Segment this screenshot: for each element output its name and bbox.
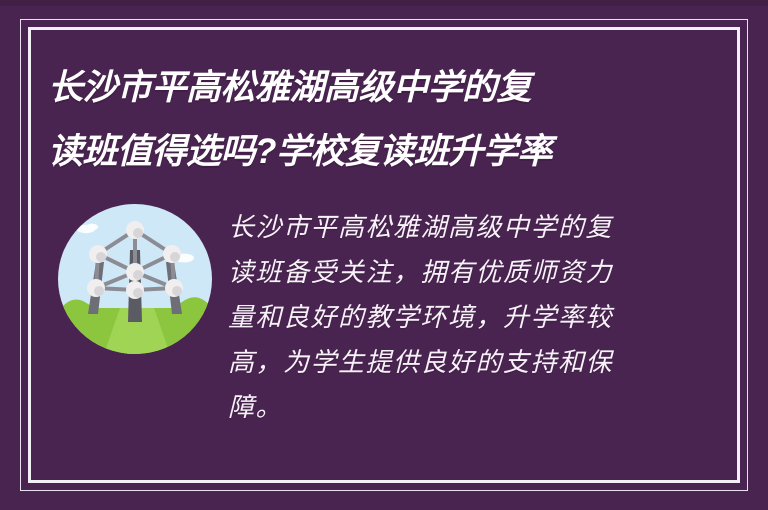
atomium-monument-illustration [58, 204, 212, 354]
article-card: 长沙市平高松雅湖高级中学的复 读班值得选吗?学校复读班升学率 [0, 0, 768, 510]
body-line-5: 障。 [228, 386, 656, 431]
top-edge-band [0, 0, 768, 6]
title-line-2: 读班值得选吗?学校复读班升学率 [48, 120, 688, 184]
body-line-4: 高，为学生提供良好的支持和保 [228, 341, 656, 386]
page-title: 长沙市平高松雅湖高级中学的复 读班值得选吗?学校复读班升学率 [48, 56, 688, 184]
body-line-2: 读班备受关注，拥有优质师资力 [228, 251, 656, 296]
body-line-1: 长沙市平高松雅湖高级中学的复 [228, 206, 656, 251]
article-body: 长沙市平高松雅湖高级中学的复 读班备受关注，拥有优质师资力 量和良好的教学环境，… [228, 206, 656, 431]
body-line-3: 量和良好的教学环境，升学率较 [228, 296, 656, 341]
title-line-1: 长沙市平高松雅湖高级中学的复 [48, 56, 688, 120]
